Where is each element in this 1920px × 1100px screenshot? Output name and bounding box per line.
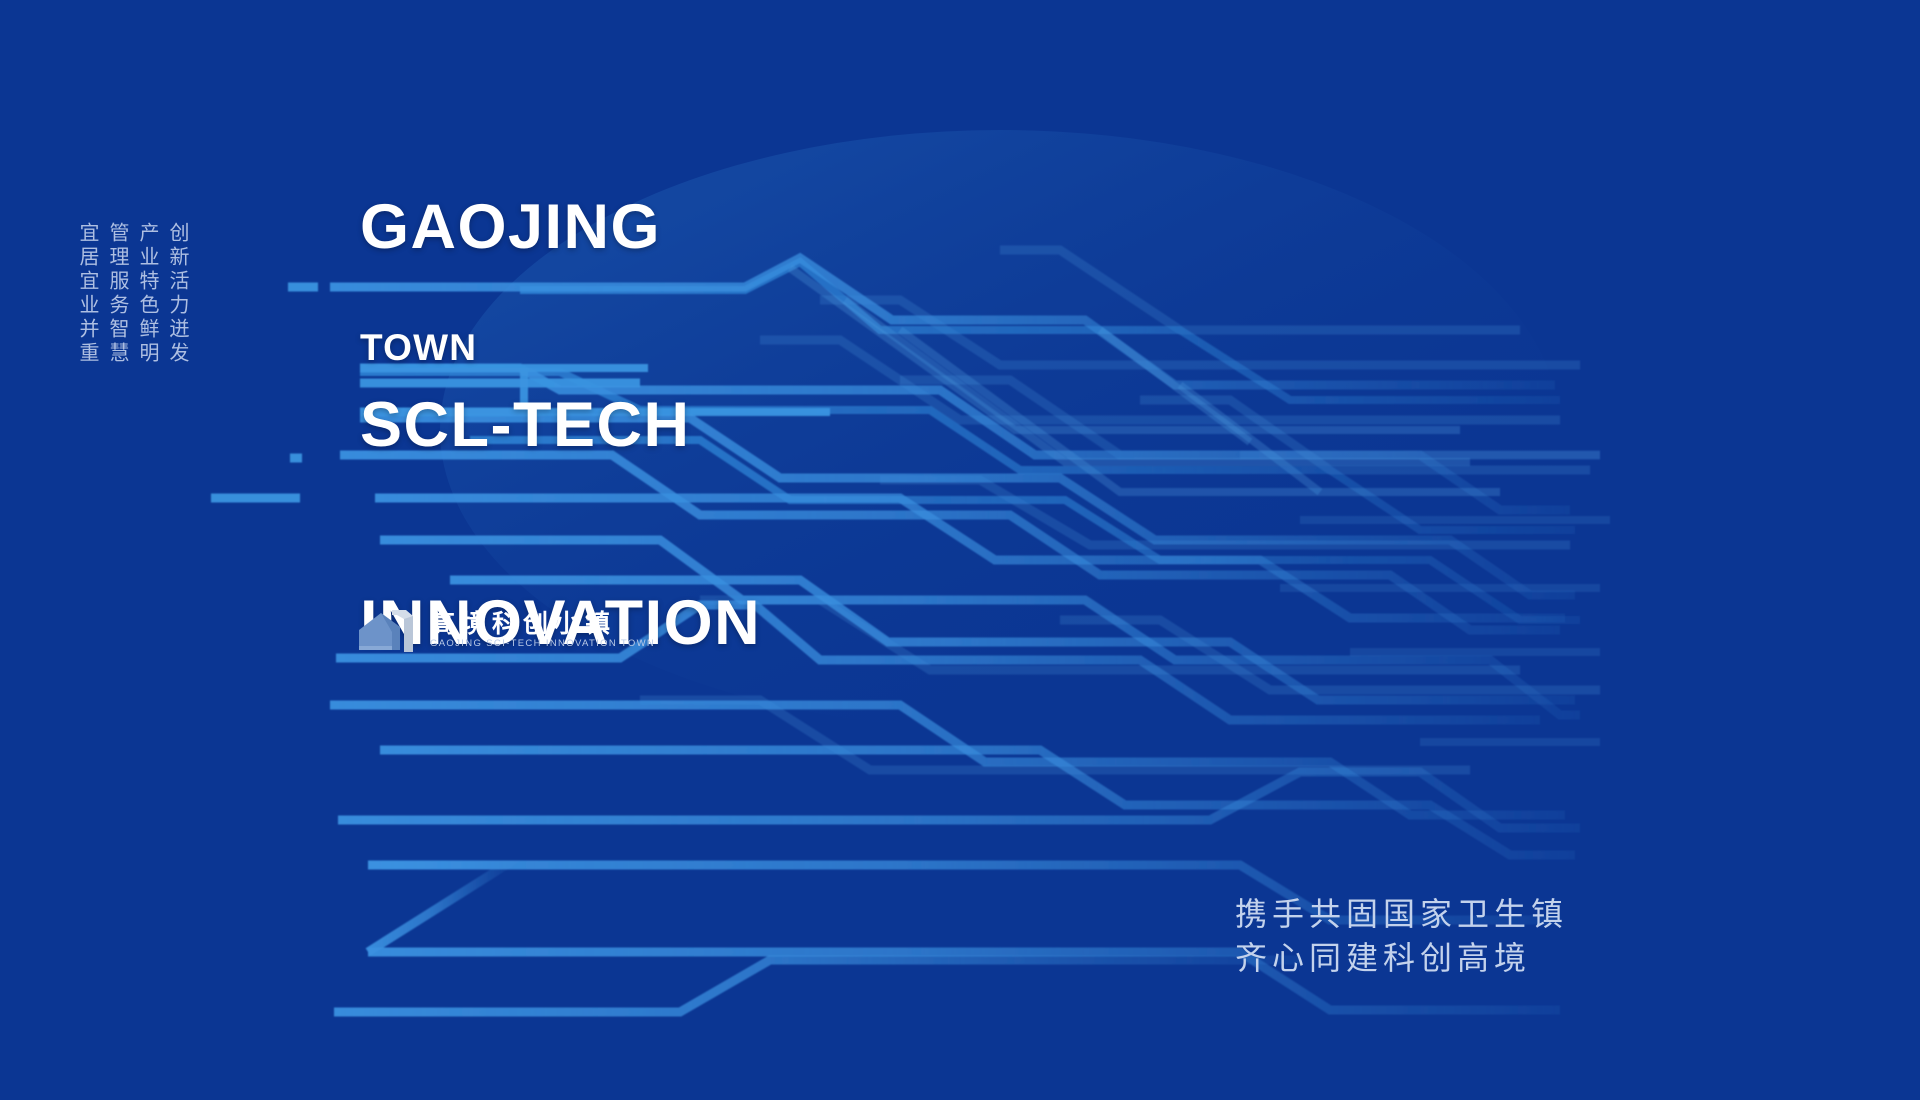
bottom-slogan: 携手共固国家卫生镇 齐心同建科创高境: [1235, 892, 1568, 980]
circuit-trace-artwork: [0, 0, 1920, 1100]
vertical-slogan-line-2: 产业特色鲜明: [138, 222, 158, 366]
page-title-line-2: SCL-TECH: [360, 392, 761, 458]
vertical-slogan-line-4: 宜居宜业并重: [78, 222, 98, 366]
vertical-slogan-line-3: 管理服务智慧: [108, 222, 128, 366]
vertical-slogan-line-1: 创新活力迸发: [168, 222, 188, 366]
bottom-slogan-line-1: 携手共固国家卫生镇: [1235, 892, 1568, 936]
poster-canvas: 创新活力迸发 产业特色鲜明 管理服务智慧 宜居宜业并重 GAOJING SCL-…: [0, 0, 1920, 1100]
bottom-slogan-line-2: 齐心同建科创高境: [1235, 936, 1568, 980]
brand-lockup: 高境科创小镇 GAOJING SCI-TECH INNOVATION TOWN: [356, 606, 655, 654]
page-subtitle: TOWN: [360, 327, 477, 369]
brand-words: 高境科创小镇 GAOJING SCI-TECH INNOVATION TOWN: [430, 611, 655, 650]
brand-name-cn: 高境科创小镇: [430, 611, 655, 637]
page-title-line-1: GAOJING: [360, 194, 761, 260]
page-title: GAOJING SCL-TECH INNOVATION: [360, 62, 761, 788]
brand-name-en: GAOJING SCI-TECH INNOVATION TOWN: [430, 639, 655, 649]
vertical-slogan: 创新活力迸发 产业特色鲜明 管理服务智慧 宜居宜业并重: [78, 222, 188, 366]
house-building-icon: [356, 606, 418, 654]
